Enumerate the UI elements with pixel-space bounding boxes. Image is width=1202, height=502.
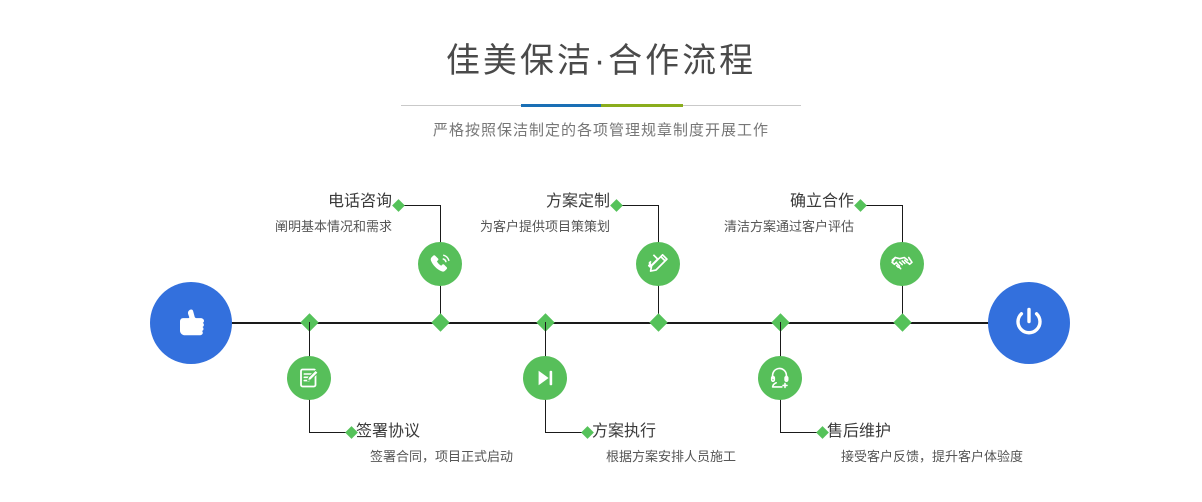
label-lead-v-5 xyxy=(902,205,903,221)
step-icon-5[interactable] xyxy=(880,242,924,286)
customer-service-icon xyxy=(767,365,793,391)
step-label-2: 签署协议 签署合同，项目正式启动 xyxy=(356,424,616,463)
step-desc: 接受客户反馈，提升客户体验度 xyxy=(841,450,1127,463)
step-icon-3[interactable] xyxy=(636,242,680,286)
step-title: 电话咨询 xyxy=(150,194,392,210)
label-lead-v-4 xyxy=(545,416,546,432)
document-edit-icon xyxy=(296,365,322,391)
timeline-marker xyxy=(649,313,667,331)
page-title: 佳美保洁·合作流程 xyxy=(0,0,1202,78)
title-divider xyxy=(401,104,801,107)
step-desc: 为客户提供项目策策划 xyxy=(368,220,610,233)
step-label-4: 方案执行 根据方案安排人员施工 xyxy=(592,424,852,463)
power-icon xyxy=(1008,302,1050,344)
step-icon-6[interactable] xyxy=(758,356,802,400)
step-desc: 阐明基本情况和需求 xyxy=(150,220,392,233)
divider-green-segment xyxy=(601,104,683,107)
step-title: 售后维护 xyxy=(827,424,1127,440)
step-icon-4[interactable] xyxy=(523,356,567,400)
infographic-canvas: 佳美保洁·合作流程 严格按照保洁制定的各项管理规章制度开展工作 xyxy=(0,0,1202,502)
step-desc: 根据方案安排人员施工 xyxy=(606,450,852,463)
step-icon-1[interactable] xyxy=(418,242,462,286)
page-subtitle: 严格按照保洁制定的各项管理规章制度开展工作 xyxy=(0,119,1202,140)
divider-blue-segment xyxy=(521,104,601,107)
pencil-ruler-icon xyxy=(645,251,671,277)
phone-call-icon xyxy=(427,251,453,277)
step-icon-2[interactable] xyxy=(287,356,331,400)
timeline-marker xyxy=(893,313,911,331)
step-title: 方案定制 xyxy=(368,194,610,210)
flow-start-badge xyxy=(150,282,232,364)
step-title: 确立合作 xyxy=(612,194,854,210)
step-desc: 清洁方案通过客户评估 xyxy=(612,220,854,233)
label-lead-v-6 xyxy=(780,416,781,432)
play-execute-icon xyxy=(532,365,558,391)
step-label-1: 电话咨询 阐明基本情况和需求 xyxy=(150,194,392,233)
process-flow-diagram: 电话咨询 阐明基本情况和需求 签署协议 签署合同，项目正式启动 xyxy=(0,150,1202,502)
pointing-hand-icon xyxy=(171,303,211,343)
flow-end-badge xyxy=(988,282,1070,364)
header: 佳美保洁·合作流程 严格按照保洁制定的各项管理规章制度开展工作 xyxy=(0,0,1202,140)
handshake-icon xyxy=(889,251,915,277)
label-lead-marker-5 xyxy=(854,199,867,212)
timeline-marker xyxy=(431,313,449,331)
label-lead-v-2 xyxy=(309,416,310,432)
step-label-3: 方案定制 为客户提供项目策策划 xyxy=(368,194,610,233)
step-desc: 签署合同，项目正式启动 xyxy=(370,450,616,463)
step-label-5: 确立合作 清洁方案通过客户评估 xyxy=(612,194,854,233)
step-label-6: 售后维护 接受客户反馈，提升客户体验度 xyxy=(827,424,1127,463)
